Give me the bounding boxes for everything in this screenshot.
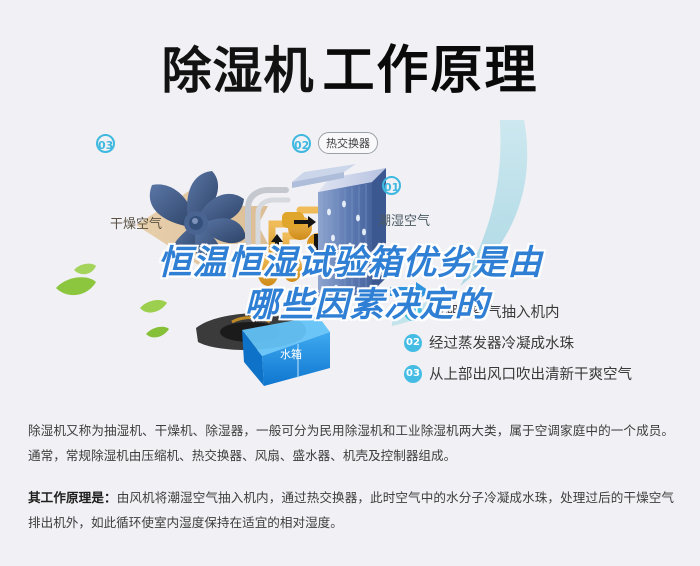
leaf-cluster (56, 264, 169, 338)
page-title-part1: 除湿机 (161, 42, 314, 100)
paragraph-2-lead: 其工作原理是： (28, 490, 117, 505)
step-label: 从上部出风口吹出清新干爽空气 (429, 363, 632, 384)
step-number: 01 (404, 303, 422, 321)
label-water-tank: 水箱 (280, 346, 302, 362)
process-step: 02 经过蒸发器冷凝成水珠 (404, 327, 694, 358)
badge-01-humid-air: 01 (382, 176, 401, 195)
step-label: 经过蒸发器冷凝成水珠 (429, 332, 574, 353)
dehumidifier-diagram: 03 干燥空气 02 热交换器 01 潮湿空气 水箱 01 将潮湿空气抽入机内 … (0, 120, 700, 405)
page-title: 除湿机工作原理 (0, 28, 700, 103)
page-title-part2: 工作原理 (322, 40, 538, 101)
paragraph-2: 其工作原理是：由风机将潮湿空气抽入机内，通过热交换器，此时空气中的水分子冷凝成水… (28, 485, 674, 535)
label-dry-air: 干燥空气 (110, 213, 162, 232)
label-humid-air: 潮湿空气 (378, 210, 430, 229)
article-body: 除湿机又称为抽湿机、干燥机、除湿器，一般可分为民用除湿机和工业除湿机两大类，属于… (28, 418, 674, 535)
page-root: 除湿机工作原理 (0, 0, 700, 566)
paragraph-2-rest: 由风机将潮湿空气抽入机内，通过热交换器，此时空气中的水分子冷凝成水珠，处理过后的… (28, 490, 674, 530)
process-step: 03 从上部出风口吹出清新干爽空气 (404, 358, 694, 389)
badge-03-dry-air: 03 (96, 134, 115, 153)
compressor-circuit (248, 190, 329, 286)
process-step-list: 01 将潮湿空气抽入机内 02 经过蒸发器冷凝成水珠 03 从上部出风口吹出清新… (404, 296, 694, 389)
badge-02-heat-exchanger: 02 (292, 134, 311, 153)
callout-heat-exchanger: 热交换器 (318, 132, 378, 154)
paragraph-1: 除湿机又称为抽湿机、干燥机、除湿器，一般可分为民用除湿机和工业除湿机两大类，属于… (28, 418, 674, 468)
step-number: 03 (404, 365, 422, 383)
step-number: 02 (404, 334, 422, 352)
step-label: 将潮湿空气抽入机内 (429, 301, 560, 322)
process-step: 01 将潮湿空气抽入机内 (404, 296, 694, 327)
